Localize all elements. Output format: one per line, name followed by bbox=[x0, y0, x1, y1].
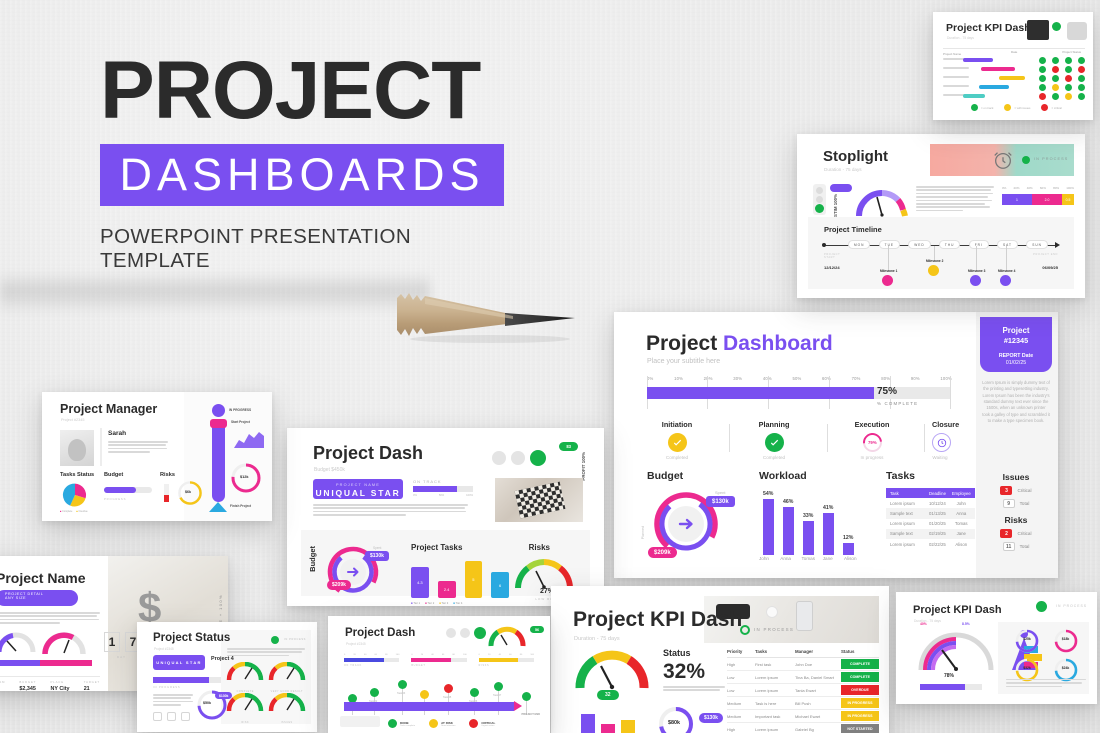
table-cell: Bill Push bbox=[795, 701, 841, 706]
dash2-bars: 020406080100ON TRACK020406080100BUDGET02… bbox=[344, 654, 534, 667]
big-numbers-caption: DAY bbox=[117, 655, 126, 659]
segment: 1 bbox=[1002, 194, 1032, 205]
table-cell: John bbox=[952, 501, 972, 506]
milestone-label: Milestone 2 bbox=[926, 259, 943, 263]
hero-banner: DASHBOARDS bbox=[100, 144, 504, 206]
timeline-pin[interactable] bbox=[420, 690, 429, 699]
dashboard-subtitle: Place your subtitle here bbox=[647, 358, 720, 365]
budget-spent-value: $130k bbox=[706, 496, 735, 507]
status-gauge: ISSUES bbox=[268, 693, 307, 721]
background-shadow-band bbox=[0, 272, 430, 314]
kpi-top-subtitle: Duration - 75 days bbox=[947, 36, 974, 40]
status-gauges: COMPLETEVERY GOOD RESULTRISKISSUES bbox=[226, 662, 306, 721]
segment: 2.0 bbox=[1032, 194, 1062, 205]
risks-total-count: 11 bbox=[1003, 542, 1015, 551]
table-cell: Low bbox=[727, 675, 755, 680]
status-dot bbox=[1036, 601, 1047, 612]
table-cell: Tania Ewart bbox=[795, 688, 841, 693]
timeline-start-label: PROJECT START bbox=[824, 253, 848, 259]
device-photo-2 bbox=[1067, 22, 1087, 40]
finish-marker bbox=[209, 502, 227, 512]
split-progress-bar bbox=[0, 660, 92, 666]
kpi-mid-bars bbox=[573, 708, 645, 733]
legend-item: ■ Tier 2 bbox=[425, 602, 434, 605]
report-date-value: 01/02/25 bbox=[980, 360, 1052, 366]
kpi-top-legend: = on track= with issues= critical bbox=[971, 104, 1062, 111]
project-badge: Project #12345 REPORT Date 01/02/25 bbox=[980, 317, 1052, 372]
check-circle-icon bbox=[765, 433, 784, 452]
dash2-bar-block: 020406080100BUDGET bbox=[411, 654, 466, 667]
progress-caption: IN PROGRESS bbox=[153, 686, 180, 689]
status-badge: IN PROGRESS bbox=[229, 408, 251, 412]
project-name-stats: TEAM8BUDGET$2,345PLACENY CityTARGET21 bbox=[0, 680, 100, 691]
bar-label: ON TRACK bbox=[344, 664, 399, 667]
kpi-row-label bbox=[943, 67, 969, 70]
dash-photo bbox=[495, 478, 583, 522]
page-title: PROJECT bbox=[100, 52, 520, 130]
slide-project-dashboard[interactable]: Project Dashboard Place your subtitle he… bbox=[614, 312, 1058, 578]
budget-planned-label: Planned bbox=[641, 526, 645, 539]
phase-status: Completed bbox=[736, 455, 812, 460]
tick: 100% bbox=[1066, 186, 1074, 190]
hero-block: PROJECT DASHBOARDS POWERPOINT PRESENTATI… bbox=[100, 52, 520, 273]
legend-item: Overdue bbox=[78, 510, 87, 513]
status-badge: IN PROCESS bbox=[1034, 157, 1068, 161]
gantt-bar bbox=[963, 94, 985, 98]
kpi-right-panel: $25k$18k$32k$24k bbox=[998, 622, 1089, 694]
milestone-marker[interactable] bbox=[1000, 275, 1011, 286]
timeline-days: MONTUEWEDTHUFRISATSUN bbox=[848, 240, 1048, 249]
phase-divider bbox=[827, 424, 828, 452]
column-header: Tasks bbox=[755, 649, 795, 654]
table-cell: Lorem ipsum bbox=[890, 521, 929, 526]
legend-item: ■ Tier 4 bbox=[453, 602, 462, 605]
workload-value: 54% bbox=[763, 491, 773, 497]
budget-progress-label: PROGRESS bbox=[104, 497, 126, 501]
table-row[interactable]: HighLorem ipsumGabriel BgNOT STARTED bbox=[727, 723, 879, 733]
kpi-mid-subtitle: Duration - 75 days bbox=[574, 636, 620, 642]
workload-bar bbox=[763, 499, 774, 555]
timeline-start-dot bbox=[822, 243, 826, 247]
task-bar: 4.3 bbox=[411, 567, 429, 598]
report-date-label: REPORT Date bbox=[980, 353, 1052, 359]
table-row[interactable]: Sample text01/13/25Anna bbox=[886, 508, 975, 518]
table-cell: Medium bbox=[727, 714, 755, 719]
tick-label: 30% bbox=[733, 376, 742, 381]
milestone-label: Milestone 4 bbox=[998, 269, 1015, 273]
dash-subtitle: Budget $450k bbox=[314, 467, 345, 473]
timeline-pin[interactable] bbox=[370, 688, 379, 697]
profit-badge: 83 bbox=[559, 442, 578, 451]
column-header: Deadline bbox=[929, 491, 952, 496]
gauge-label: ESTIM 100% bbox=[833, 194, 838, 220]
dashboard-title: Project Dashboard bbox=[646, 332, 833, 356]
table-cell: Alison bbox=[952, 542, 972, 547]
table-row[interactable]: Lorem ipsum01/20/25Tomas bbox=[886, 519, 975, 529]
table-header-row: PriorityTasksManagerStatus bbox=[727, 649, 879, 658]
timeline-day: WED bbox=[908, 240, 930, 249]
big-number: 1 bbox=[104, 632, 120, 652]
milestone-marker[interactable] bbox=[970, 275, 981, 286]
phase-closure[interactable]: Closure Waiting bbox=[872, 420, 948, 460]
status-dot bbox=[1022, 156, 1030, 164]
dash-status-lights bbox=[492, 450, 546, 466]
phase-name: Planning bbox=[736, 420, 812, 429]
timeline-day: MON bbox=[848, 240, 870, 249]
tasks-legend: ■ Tier 1■ Tier 2■ Tier 3■ Tier 4 bbox=[411, 602, 462, 605]
placeholder-icon bbox=[153, 712, 162, 721]
tick: 100% bbox=[466, 494, 473, 497]
status-indicator bbox=[1052, 93, 1059, 100]
dash2-title: Project Dash bbox=[345, 627, 415, 639]
bar-label: BUDGET bbox=[411, 664, 466, 667]
profit-label: PROFIT 100% bbox=[581, 452, 586, 481]
column-header: Priority bbox=[727, 649, 755, 654]
stat-label: BUDGET bbox=[19, 680, 36, 684]
gauge-caption: RISK bbox=[226, 721, 265, 724]
timeline-pin[interactable] bbox=[522, 692, 531, 701]
table-cell: 02/22/25 bbox=[929, 542, 952, 547]
status-indicator bbox=[1065, 84, 1072, 91]
manager-title: Project Manager bbox=[60, 402, 157, 416]
status-badge: IN PROGRESS bbox=[841, 711, 879, 721]
progress-fill bbox=[647, 387, 874, 399]
manager-status-icon bbox=[212, 404, 225, 417]
kpi-right-subtitle: Duration - 75 days bbox=[914, 619, 941, 623]
status-badge: IN PROGRESS bbox=[841, 698, 879, 708]
phase-status: Waiting bbox=[932, 455, 948, 460]
kpi-stat-2: 8.5% bbox=[962, 622, 970, 626]
phase-name: Closure bbox=[932, 420, 948, 429]
gauge-badge: 56 bbox=[530, 626, 544, 633]
slide-project-dash-2[interactable]: Project Dash Project #2345 56 0204060801… bbox=[328, 616, 550, 733]
stat-label: TEAM bbox=[0, 680, 5, 684]
gauge-value: 78% bbox=[944, 673, 954, 679]
tasks-status-heading: Tasks Status bbox=[60, 472, 94, 478]
slide-kpi-dash-mid[interactable]: IN PROCESS Project KPI Dash Duration - 7… bbox=[551, 586, 889, 733]
slide-project-manager[interactable]: Project Manager Project #2345 Sarah Task… bbox=[42, 392, 272, 521]
kpi-mid-donut bbox=[656, 704, 696, 733]
risks-block: Risks 2 Critical 11 Total bbox=[982, 515, 1050, 551]
status-badge: OVERDUE bbox=[841, 685, 879, 695]
budget-spent-label: Spent bbox=[373, 546, 381, 550]
gauge-pink bbox=[42, 632, 86, 656]
slide-stoplight[interactable]: IN PROCESS Stoplight Duration - 75 days … bbox=[797, 134, 1085, 298]
timeline-day: FRI bbox=[969, 240, 989, 249]
dash2-subtitle: Project #2345 bbox=[346, 642, 366, 646]
table-cell: First task bbox=[755, 662, 795, 667]
legend-item: CRITICALUrgent action bbox=[469, 719, 495, 728]
table-row[interactable]: MediumImportant taskMichael EwartIN PROG… bbox=[727, 710, 879, 723]
issues-critical-chip: 3 Critical bbox=[982, 486, 1050, 495]
table-cell: Important task bbox=[755, 714, 795, 719]
project-name-paragraph bbox=[0, 612, 100, 626]
table-cell: Lorem ipsum bbox=[890, 542, 929, 547]
tick: 20% bbox=[1014, 186, 1020, 190]
workload-category: Tomas bbox=[802, 556, 822, 561]
segment-bar: 1 2.0 0.5 bbox=[1002, 194, 1074, 205]
workload-bar bbox=[843, 543, 854, 555]
progress-caption: % COMPLETE bbox=[877, 401, 918, 406]
gantt-bar bbox=[981, 67, 1015, 71]
stoplight-header-photo: IN PROCESS bbox=[930, 144, 1074, 176]
tick: 80% bbox=[1053, 186, 1059, 190]
issues-critical-label: Critical bbox=[1017, 488, 1031, 493]
tick-label: 20% bbox=[704, 376, 713, 381]
milestone-stem bbox=[1006, 246, 1007, 269]
workload-category: Anna bbox=[780, 556, 800, 561]
workload-category: Jane bbox=[823, 556, 843, 561]
tick: 40% bbox=[1027, 186, 1033, 190]
tasks-table[interactable]: TaskDeadlineEmployeeLorem ipsum10/12/24J… bbox=[886, 488, 975, 549]
timeline-pin[interactable] bbox=[470, 688, 479, 697]
milestone-marker[interactable] bbox=[882, 275, 893, 286]
gauge-value: 32 bbox=[597, 690, 619, 700]
phase-initiation[interactable]: Initiation Completed bbox=[639, 420, 715, 460]
tick-label: 80% bbox=[881, 376, 890, 381]
tick-label: 90% bbox=[911, 376, 920, 381]
slide-kpi-dash-top[interactable]: Project KPI Dash Duration - 75 days Proj… bbox=[933, 12, 1093, 120]
status-gauges-panel: IN PROCESS COMPLETEVERY GOOD RESULTRISKI… bbox=[221, 630, 311, 724]
dash2-legend: DONETasks completeAT RISKNeed attentionC… bbox=[388, 719, 495, 728]
table-cell: Lorem ipsum bbox=[755, 727, 795, 732]
milestone-stem bbox=[934, 246, 935, 259]
status-indicator bbox=[1052, 57, 1059, 64]
manager-progress-pillar bbox=[212, 420, 225, 502]
timeline-heading: Project Timeline bbox=[824, 225, 882, 234]
status-indicator bbox=[1052, 75, 1059, 82]
kpi-stat-1: 40% bbox=[920, 622, 927, 626]
risks-heading: Risks bbox=[529, 543, 550, 552]
donut-value: $80k bbox=[668, 720, 680, 726]
timeline-end-label: PROJECT END bbox=[522, 713, 540, 716]
timeline-end-date: 06/09/25 bbox=[1042, 265, 1058, 270]
table-cell: Gabriel Bg bbox=[795, 727, 841, 732]
workload-value: 46% bbox=[783, 499, 793, 505]
status-progress-bar bbox=[153, 677, 221, 683]
stat-value: 21 bbox=[84, 686, 100, 691]
status-dot bbox=[1052, 22, 1061, 31]
slide-project-dash[interactable]: Project Dash Budget $450k 83 PROFIT 100%… bbox=[287, 428, 604, 606]
issues-block: Issues 3 Critical 9 Total bbox=[982, 472, 1050, 508]
tasks-heading: Tasks bbox=[886, 470, 915, 482]
stat-label: PLACE bbox=[50, 680, 69, 684]
kpi-donut: $18k bbox=[1049, 628, 1084, 654]
tasks-bar-chart: 4.32.456 bbox=[411, 558, 509, 598]
badge-line-2: ANY SIZE bbox=[5, 596, 78, 600]
table-row[interactable]: MediumTask is hereBill PushIN PROGRESS bbox=[727, 697, 879, 710]
status-indicator bbox=[1039, 66, 1046, 73]
progress-tick-labels: 0% 10% 20% 30% 40% 50% 60% 70% 80% 90% 1… bbox=[647, 376, 952, 381]
person-name: Sarah bbox=[108, 430, 126, 437]
kpi-mid-gauge bbox=[573, 650, 651, 690]
status-indicator bbox=[1078, 66, 1085, 73]
status-indicator bbox=[1065, 57, 1072, 64]
pin-label: Task 03 bbox=[397, 692, 405, 695]
stat-value: NY City bbox=[50, 686, 69, 691]
status-badge: IN PROCESS bbox=[754, 627, 794, 632]
alarm-clock-icon bbox=[992, 149, 1014, 171]
timeline-day: THU bbox=[939, 240, 961, 249]
timeline-pin[interactable] bbox=[444, 684, 453, 693]
kpi-donut: $25k bbox=[1010, 628, 1045, 654]
task-bar: 6 bbox=[491, 572, 509, 598]
table-cell: Low bbox=[727, 688, 755, 693]
table-row[interactable]: Lorem ipsum10/12/24John bbox=[886, 498, 975, 508]
table-cell: Medium bbox=[727, 701, 755, 706]
task-bar: 2.4 bbox=[438, 581, 456, 598]
kpi-row-label bbox=[943, 76, 969, 79]
placeholder-icon bbox=[181, 712, 190, 721]
issues-total-count: 9 bbox=[1003, 499, 1015, 508]
table-cell: Jane bbox=[952, 531, 972, 536]
risks-total-label: Total bbox=[1020, 544, 1030, 549]
donut-badge: $130k bbox=[699, 713, 723, 723]
sidebar-paragraph: Lorem Ipsum is simply dummy text of the … bbox=[982, 380, 1050, 424]
issues-total-label: Total bbox=[1020, 501, 1030, 506]
status-indicator bbox=[1078, 57, 1085, 64]
status-indicator bbox=[1065, 93, 1072, 100]
status-badge: COMPLETE bbox=[841, 672, 879, 682]
status-gauge: RISK bbox=[226, 693, 265, 721]
stoplight-gauge bbox=[853, 184, 911, 218]
legend-item: DONETasks complete bbox=[388, 719, 415, 728]
timeline-pin[interactable] bbox=[398, 680, 407, 689]
project-name-title: Project Name bbox=[0, 570, 85, 586]
project-name-badge: PROJECT NAME UNIQUAL STAR bbox=[313, 479, 403, 499]
project-number: #12345 bbox=[980, 336, 1052, 345]
risks-total-chip: 11 Total bbox=[982, 542, 1050, 551]
milestone-label: Milestone 1 bbox=[880, 269, 897, 273]
column-group-3: Project Status bbox=[1062, 50, 1081, 54]
status-heading: Status bbox=[663, 648, 691, 658]
status-subtitle: Project #2345 bbox=[154, 647, 174, 651]
status-indicator bbox=[1052, 84, 1059, 91]
tick-label: 10% bbox=[674, 376, 683, 381]
gauge-purple bbox=[0, 632, 36, 654]
workload-bar bbox=[823, 513, 834, 555]
table-cell: Lorem ipsum bbox=[890, 501, 929, 506]
gantt-bar bbox=[979, 85, 1009, 89]
table-cell: Task is here bbox=[755, 701, 795, 706]
status-dot bbox=[271, 636, 279, 644]
segment-ticks: 0% 20% 40% 60% 80% 100% bbox=[1002, 186, 1074, 190]
budget-heading: Budget bbox=[647, 470, 683, 482]
status-indicator bbox=[1065, 75, 1072, 82]
track-bar bbox=[413, 486, 473, 492]
issues-critical-count: 3 bbox=[1000, 486, 1012, 495]
kpi-right-title: Project KPI Dash bbox=[913, 604, 1002, 616]
table-cell: Lorem ipsum bbox=[755, 688, 795, 693]
workload-category: Alison bbox=[844, 556, 864, 561]
table-cell: Tomas bbox=[952, 521, 972, 526]
project-name-label: PROJECT NAME bbox=[313, 483, 403, 487]
workload-chart: 54%46%33%41%12% bbox=[759, 490, 864, 555]
workload-bar bbox=[803, 521, 814, 555]
table-cell: High bbox=[727, 662, 755, 667]
phase-name: Initiation bbox=[639, 420, 715, 429]
table-row[interactable]: Sample text02/19/25Jane bbox=[886, 529, 975, 539]
table-row[interactable]: Lorem ipsum02/22/25Alison bbox=[886, 539, 975, 549]
dash2-timeline-bar bbox=[344, 702, 514, 711]
slide-project-status[interactable]: IN PROCESS COMPLETEVERY GOOD RESULTRISKI… bbox=[137, 622, 317, 732]
table-row[interactable]: HighFirst taskJohn DoeCOMPLETE bbox=[727, 658, 879, 671]
table-header-row: TaskDeadlineEmployee bbox=[886, 488, 975, 498]
bar-label: RISKS bbox=[479, 664, 534, 667]
table-cell: John Doe bbox=[795, 662, 841, 667]
status-gauge: VERY GOOD RESULT bbox=[268, 662, 307, 690]
risk-thermometer-icon bbox=[164, 484, 169, 502]
status-badge: NOT STARTED bbox=[841, 724, 879, 733]
status-indicator bbox=[1078, 93, 1085, 100]
clock-icon bbox=[932, 433, 951, 452]
legend-item: AT RISKNeed attention bbox=[429, 719, 455, 728]
project-detail-badge: PROJECT DETAIL ANY SIZE bbox=[0, 590, 78, 606]
pin-label: Task 05 bbox=[443, 696, 451, 699]
status-badge: COMPLETE bbox=[841, 659, 879, 669]
legend-item: = on track bbox=[971, 104, 993, 111]
progress-value: 75% bbox=[877, 386, 897, 397]
dashboard-title-accent: Dashboard bbox=[723, 332, 833, 355]
budget-heading: Budget bbox=[308, 546, 317, 572]
status-title: Project Status bbox=[153, 632, 230, 644]
column-header: Employee bbox=[952, 491, 972, 496]
table-row[interactable]: LowLorem ipsumTina Ba, Daniel SmartCOMPL… bbox=[727, 671, 879, 684]
donut-value: $18k bbox=[1049, 637, 1083, 641]
dash2-bar-block: 020406080100ON TRACK bbox=[344, 654, 399, 667]
risks-critical-count: 2 bbox=[1000, 529, 1012, 538]
track-label: ON TRACK bbox=[413, 479, 442, 484]
dash2-status-lights bbox=[446, 627, 486, 639]
donut-value: $12k bbox=[240, 475, 248, 479]
traffic-light-icon bbox=[813, 184, 826, 215]
workload-value: 33% bbox=[803, 513, 813, 519]
phase-planning[interactable]: Planning Completed bbox=[736, 420, 812, 460]
hero-banner-text: DASHBOARDS bbox=[119, 149, 484, 201]
tick: 50% bbox=[439, 494, 444, 497]
big-numbers: 1 7 bbox=[104, 632, 141, 652]
donut-value: $24k bbox=[1049, 666, 1083, 670]
timeline-pin[interactable] bbox=[494, 682, 503, 691]
legend-sub: Urgent action bbox=[481, 725, 495, 727]
risks-heading: Risks bbox=[160, 472, 175, 478]
milestone-marker[interactable] bbox=[928, 265, 939, 276]
table-row[interactable]: LowLorem ipsumTania EwartOVERDUE bbox=[727, 684, 879, 697]
column-group-1: Project Name bbox=[943, 52, 961, 56]
milestone-stem bbox=[976, 246, 977, 269]
stat-value: 8 bbox=[0, 686, 5, 691]
dash2-gauge bbox=[488, 626, 526, 648]
tick: 60% bbox=[1040, 186, 1046, 190]
issues-heading: Issues bbox=[982, 472, 1050, 482]
check-circle-icon bbox=[668, 433, 687, 452]
risks-critical-label: Critical bbox=[1017, 531, 1031, 536]
device-photo bbox=[1027, 20, 1049, 40]
status-indicator bbox=[1052, 66, 1059, 73]
hero-subtitle: POWERPOINT PRESENTATION TEMPLATE bbox=[100, 225, 520, 273]
table-cell: Lorem ipsum bbox=[755, 675, 795, 680]
slide-kpi-dash-right[interactable]: Project KPI Dash Duration - 75 days IN P… bbox=[896, 592, 1097, 704]
table-cell: 01/13/25 bbox=[929, 511, 952, 516]
dashboard-title-prefix: Project bbox=[646, 332, 723, 355]
kpi-mid-table[interactable]: PriorityTasksManagerStatusHighFirst task… bbox=[727, 649, 879, 733]
phase-divider bbox=[729, 424, 730, 452]
table-cell: 01/20/25 bbox=[929, 521, 952, 526]
stat-block: TARGET21 bbox=[84, 680, 100, 691]
status-paragraph bbox=[227, 648, 305, 658]
status-indicator bbox=[1039, 57, 1046, 64]
stat-block: PLACENY City bbox=[50, 680, 69, 691]
